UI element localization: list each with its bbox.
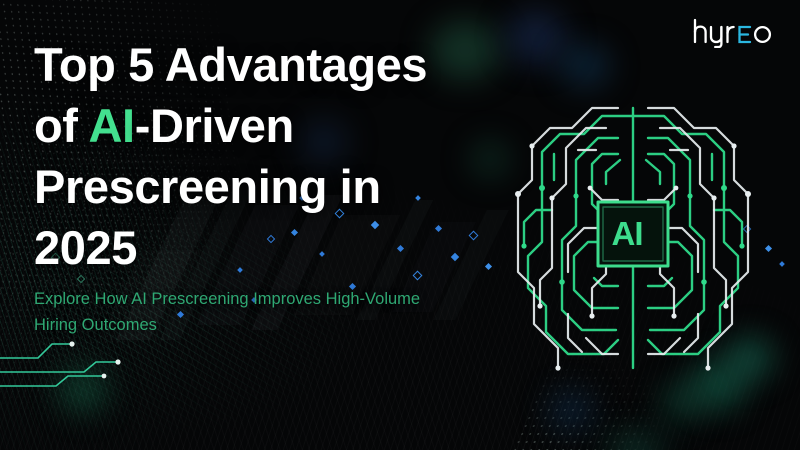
headline-line-2-suffix: -Driven [135, 99, 294, 152]
ai-chip-label: AI [598, 208, 656, 260]
hyreo-logo[interactable] [692, 18, 778, 48]
headline-line-3: Prescreening in [34, 156, 554, 217]
background-glow [660, 382, 704, 422]
banner-canvas: AI Top 5 Advantages of AI-Driven Prescre… [0, 0, 800, 450]
headline-line-2: of AI-Driven [34, 95, 554, 156]
page-subtitle: Explore How AI Prescreening Improves Hig… [34, 286, 464, 338]
background-glow [548, 390, 594, 432]
headline-accent-ai: AI [88, 99, 134, 152]
particle-diamond [765, 245, 772, 252]
page-title: Top 5 Advantages of AI-Driven Prescreeni… [34, 34, 554, 278]
headline-line-1: Top 5 Advantages [34, 34, 554, 95]
headline-line-4: 2025 [34, 217, 554, 278]
subtitle-line-1: Explore How AI Prescreening Improves Hig… [34, 286, 464, 312]
particle-diamond [779, 261, 785, 267]
background-glow [560, 44, 610, 88]
circuit-trace-group [0, 334, 150, 414]
headline-line-2-prefix: of [34, 99, 88, 152]
subtitle-line-2: Hiring Outcomes [34, 312, 464, 338]
hyreo-logo-wordmark [692, 18, 778, 48]
